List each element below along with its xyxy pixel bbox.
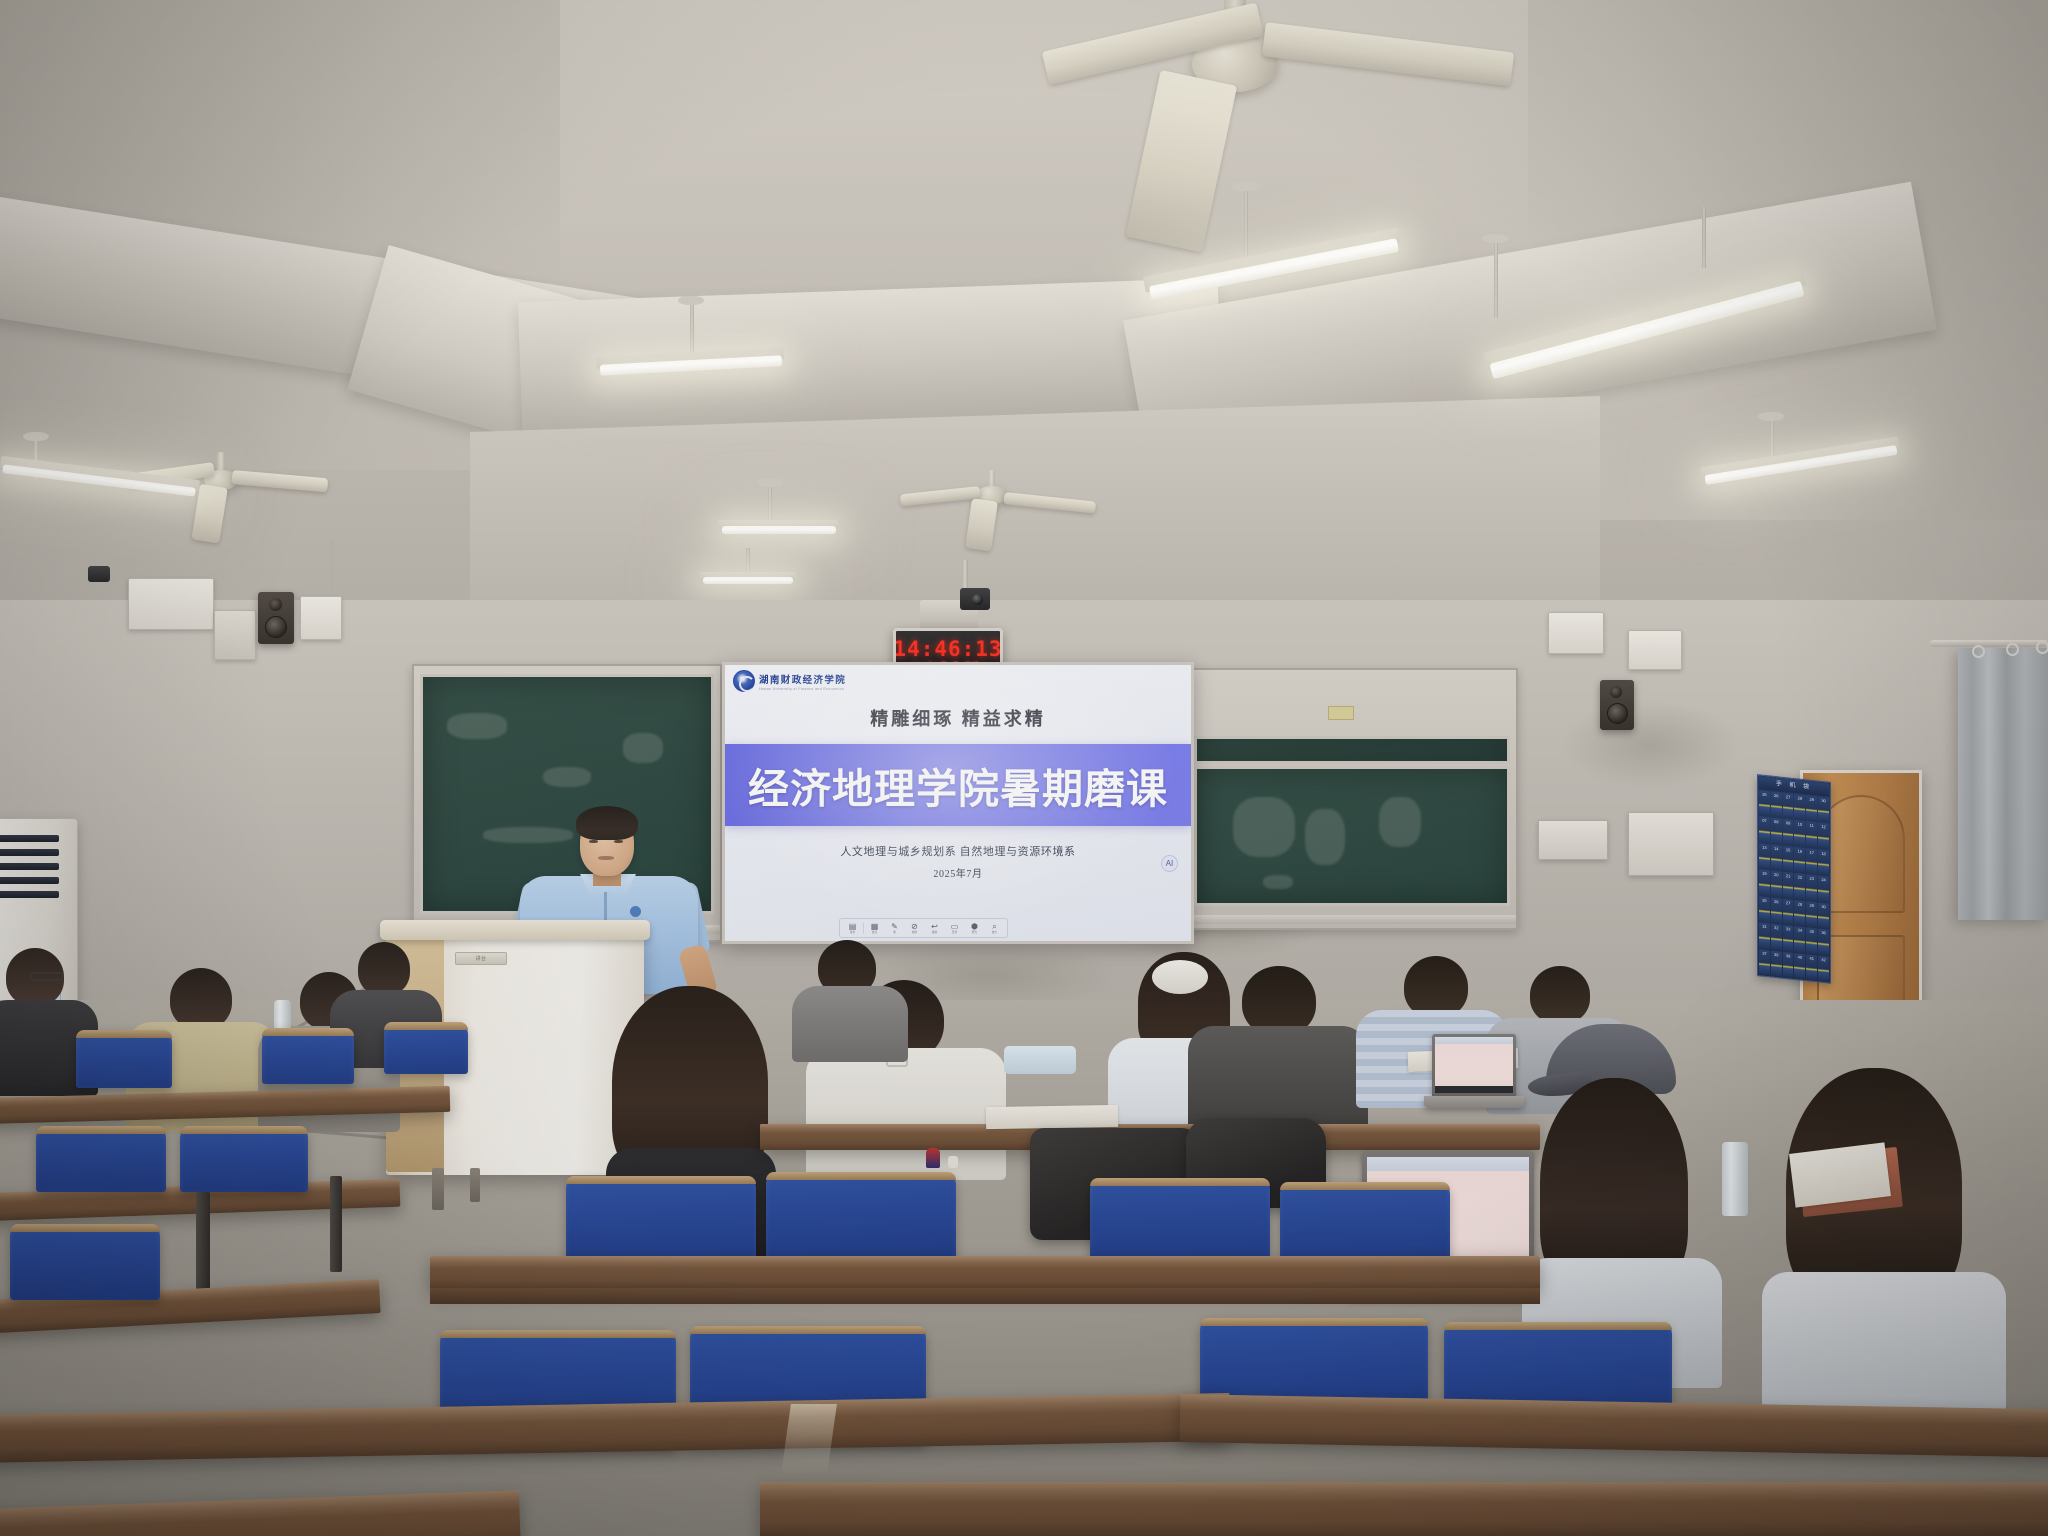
board-notice-card — [1328, 706, 1354, 720]
projection-screen: 湖南财政经济学院 Hunan University of Finance and… — [722, 662, 1194, 944]
slide-date: 2025年7月 — [725, 865, 1191, 880]
water-bottle — [1722, 1142, 1748, 1216]
toolbar-label-5: 聚光 — [972, 931, 977, 934]
toolbar-label-1: 笔 — [893, 931, 896, 934]
toolbar-label-3: 撤销 — [932, 931, 937, 934]
eraser-icon: ⊘ — [911, 923, 918, 931]
chalkboard-right-frame — [1186, 668, 1518, 930]
wall-speaker-left — [258, 592, 294, 644]
electrical-panel — [1628, 812, 1714, 876]
window-curtain[interactable] — [1958, 648, 2048, 920]
toolbar-item-shape[interactable]: ▭ 形状 — [945, 920, 964, 937]
presentation-slide: 湖南财政经济学院 Hunan University of Finance and… — [725, 665, 1191, 941]
desk-row-nearest — [760, 1482, 2048, 1536]
slide-title-band: 经济地理学院暑期磨课 — [725, 744, 1191, 826]
university-name-en: Hunan University of Finance and Economic… — [759, 687, 846, 691]
annotation-toolbar[interactable]: ▤菜单 ▦ 批注 ✎ 笔 ⊘ 擦除 ↩ 撤销 — [839, 918, 1008, 938]
podium-nameplate: 讲台 — [455, 952, 507, 965]
seat[interactable] — [766, 1172, 956, 1264]
chalkboard-right-top — [1194, 736, 1510, 764]
slide-ai-badge[interactable]: AI — [1161, 855, 1178, 872]
desk-front-panel-c — [430, 1288, 1540, 1304]
toolbar-label-4: 形状 — [952, 931, 957, 934]
podium-top-surface — [380, 920, 650, 940]
seat[interactable] — [384, 1022, 468, 1074]
spotlight-icon: ⬢ — [971, 923, 978, 931]
curtain-grommet — [1972, 645, 1985, 658]
toolbar-separator — [863, 923, 864, 934]
annotate-icon: ▦ — [871, 923, 879, 931]
toolbar-label-0: 批注 — [872, 931, 877, 934]
seat[interactable] — [1090, 1178, 1270, 1266]
university-name-cn: 湖南财政经济学院 — [759, 672, 846, 686]
pen-icon: ✎ — [891, 923, 898, 931]
undo-icon: ↩ — [931, 923, 938, 931]
desk-figurine — [926, 1148, 940, 1168]
desk-small-item — [948, 1156, 958, 1168]
toolbar-item-spotlight[interactable]: ⬢ 聚光 — [965, 920, 984, 937]
presenter-mouth — [598, 856, 614, 860]
university-crest-icon — [733, 670, 755, 692]
presenter-hair — [576, 806, 638, 840]
toolbar-item-annotate[interactable]: ▦ 批注 — [865, 920, 884, 937]
toolbar-item-menu[interactable]: ▤菜单 — [843, 920, 862, 937]
switch-panel — [1538, 820, 1608, 860]
seat[interactable] — [76, 1030, 172, 1088]
presenter-shirt-logo — [630, 906, 641, 917]
seat[interactable] — [10, 1224, 160, 1300]
curtain-grommet — [2036, 641, 2048, 654]
paper-sheet — [986, 1105, 1118, 1129]
eyeglasses-icon — [30, 972, 64, 981]
seat[interactable] — [36, 1126, 166, 1192]
toolbar-item-eraser[interactable]: ⊘ 擦除 — [905, 920, 924, 937]
clock-time: 14:46:13 — [893, 638, 1002, 660]
folded-cloth — [1004, 1046, 1076, 1074]
chalkboard-right — [1194, 766, 1510, 906]
chair-post — [196, 1192, 210, 1300]
phone-pocket-chart: 手 机 袋 252627282930 070809101112 13141516… — [1757, 774, 1831, 984]
toolbar-label-6: 放大 — [992, 931, 997, 934]
ceiling — [0, 0, 2048, 660]
toolbar-item-zoom[interactable]: ⌕ 放大 — [985, 920, 1004, 937]
slide-motto: 精雕细琢 精益求精 — [725, 705, 1191, 731]
presenter-eye-right — [614, 840, 623, 843]
toolbar-label-2: 擦除 — [912, 931, 917, 934]
slide-subtitle: 人文地理与城乡规划系 自然地理与资源环境系 — [725, 843, 1191, 859]
classroom-photo: 14:46:13 2025年7月1日 星期二 湖南财 — [0, 0, 2048, 1536]
hair-scrunchie — [1152, 960, 1208, 994]
toolbar-item-undo[interactable]: ↩ 撤销 — [925, 920, 944, 937]
curtain-grommet — [2006, 643, 2019, 656]
seat[interactable] — [566, 1176, 756, 1268]
camera-lens-icon — [972, 594, 983, 605]
desk-row-c — [430, 1256, 1540, 1290]
desk-light-streak — [781, 1404, 837, 1474]
presenter-eye-left — [589, 840, 598, 843]
university-logo: 湖南财政经济学院 Hunan University of Finance and… — [733, 670, 846, 692]
seat[interactable] — [180, 1126, 308, 1192]
toolbar-item-pen[interactable]: ✎ 笔 — [885, 920, 904, 937]
ceiling-camera-left — [88, 566, 110, 582]
wall-speaker-right — [1600, 680, 1634, 730]
seat[interactable] — [262, 1028, 354, 1084]
shape-icon: ▭ — [951, 923, 959, 931]
magnifier-icon: ⌕ — [992, 923, 996, 931]
chalk-rail-right — [1192, 915, 1516, 924]
slide-title: 经济地理学院暑期磨课 — [748, 755, 1168, 815]
curtain-rod — [1930, 640, 2048, 647]
chair-post — [330, 1176, 342, 1272]
